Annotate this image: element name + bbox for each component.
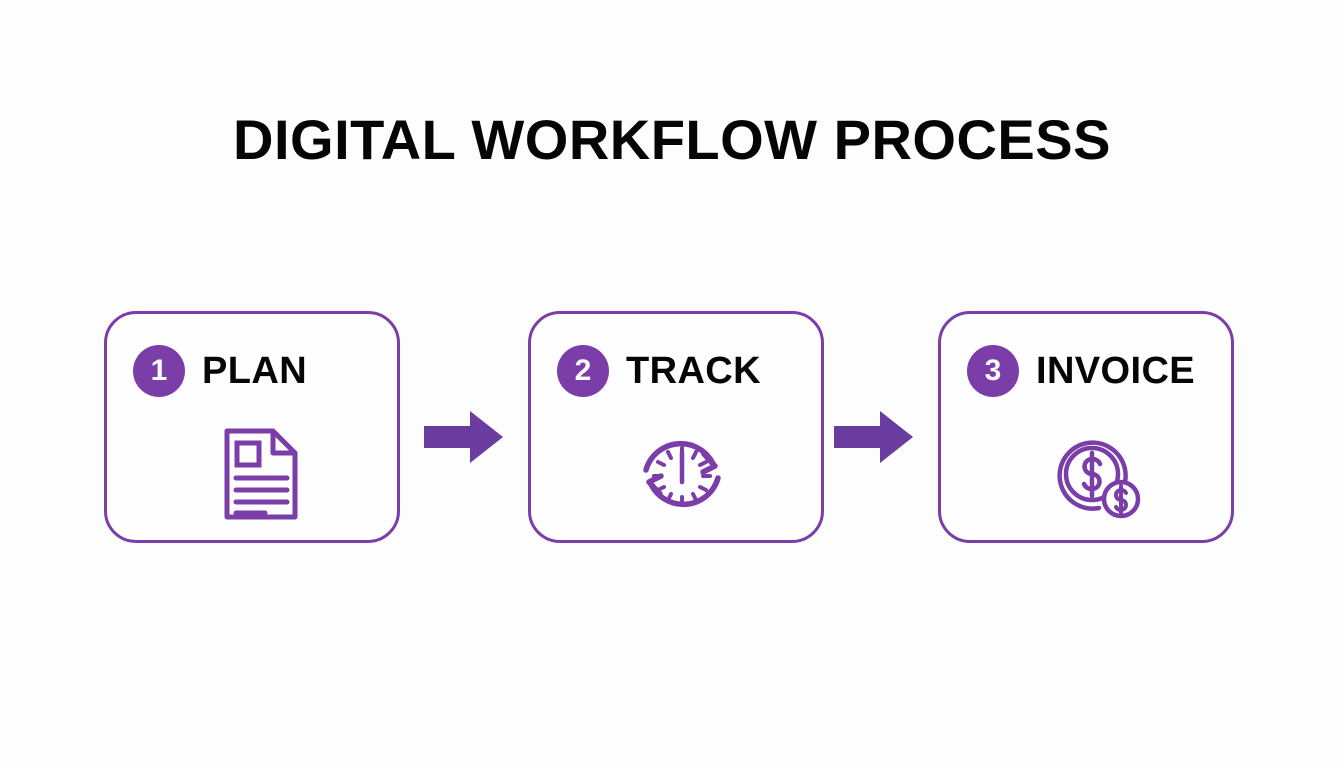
step-number-badge: 1 xyxy=(133,345,185,397)
connector-arrow-2 xyxy=(834,409,914,470)
step-card-track[interactable]: 2 TRACK xyxy=(528,311,824,543)
step-label: TRACK xyxy=(626,352,761,390)
step-icon-wrap xyxy=(941,426,1231,522)
step-header: 3 INVOICE xyxy=(967,345,1195,397)
arrow-right-icon xyxy=(834,409,914,465)
step-card-invoice[interactable]: 3 INVOICE xyxy=(938,311,1234,543)
step-header: 1 PLAN xyxy=(133,345,307,397)
step-header: 2 TRACK xyxy=(557,345,761,397)
step-icon-wrap xyxy=(107,426,397,522)
arrow-right-icon xyxy=(424,409,504,465)
coins-dollar-icon xyxy=(1047,426,1147,522)
connector-arrow-1 xyxy=(424,409,504,470)
step-icon-wrap xyxy=(531,426,821,522)
process-flow: 1 PLAN xyxy=(104,311,1234,547)
clock-refresh-icon xyxy=(632,426,732,522)
step-number-badge: 3 xyxy=(967,345,1019,397)
step-card-plan[interactable]: 1 PLAN xyxy=(104,311,400,543)
step-label: PLAN xyxy=(202,352,307,390)
document-icon xyxy=(221,426,301,522)
step-number-badge: 2 xyxy=(557,345,609,397)
slide-canvas: DIGITAL WORKFLOW PROCESS 1 PLAN xyxy=(0,0,1344,768)
step-label: INVOICE xyxy=(1036,352,1195,390)
page-title: DIGITAL WORKFLOW PROCESS xyxy=(0,112,1344,168)
